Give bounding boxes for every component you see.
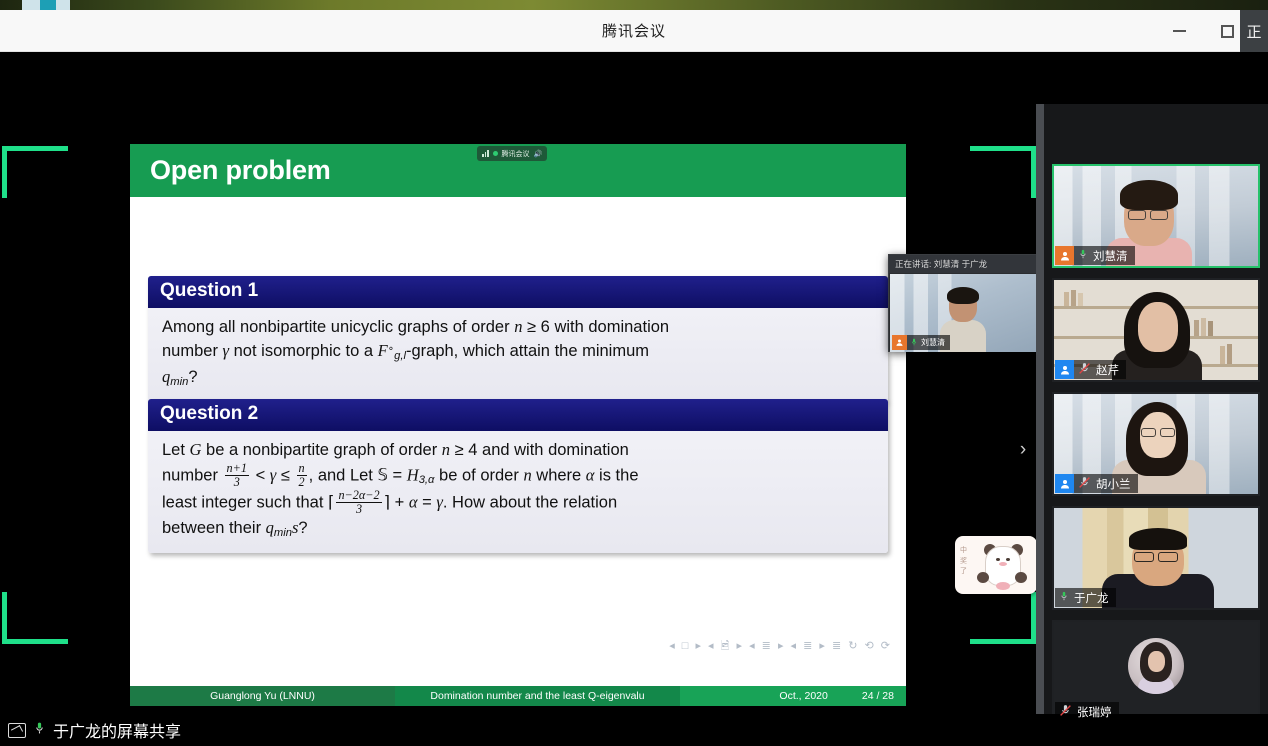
q2-l2b: < [251,467,270,485]
floating-speaker-header: 正在讲话: 刘慧清 于广龙 [889,255,1037,273]
q2-script-H: H [407,466,419,485]
participant-name-chip-4: 张瑞婷 [1055,702,1119,721]
panda-sticker-overlay: 中奖了 [955,536,1037,594]
participant-name-0: 刘慧清 [1093,248,1128,264]
participant-name-2: 胡小兰 [1096,476,1131,492]
q2-l3c: = [418,494,437,512]
q2-l1a: Let [162,441,190,459]
q2-qmin-q: q [266,518,274,537]
question-1-title: Question 1 [148,276,888,308]
q1-line1b: ≥ 6 with domination [522,318,669,336]
signal-bars-icon [482,150,489,157]
microphone-on-icon [1078,248,1088,263]
participant-name-chip-3: 于广龙 [1055,588,1116,607]
q2-fraction-2: n2 [297,462,307,489]
participant-label-0: 刘慧清 [1055,246,1135,265]
q2-frac3-num: n−2α−2 [336,489,381,503]
q2-frac1-num: n+1 [225,462,249,476]
panda-leg [996,582,1010,590]
slide-header-banner: Open problem 腾讯会议 🔊 [130,144,906,197]
participant-name-chip-2: 胡小兰 [1074,474,1138,493]
q2-frac2-den: 2 [297,476,307,489]
participant-label-4: 张瑞婷 [1055,702,1119,721]
participant-label-3: 于广龙 [1055,588,1116,607]
sticker-text: 中奖了 [960,546,972,578]
microphone-muted-icon [1078,362,1091,378]
q2-ceil-open: ⌈ [328,494,334,512]
participant-label-2: 胡小兰 [1055,474,1138,493]
q1-line1a: Among all nonbipartite unicyclic graphs … [162,318,514,336]
participant-name-4: 张瑞婷 [1077,704,1112,720]
q1-line2a: number [162,342,223,360]
participant-tile-2[interactable]: 胡小兰 [1052,392,1260,496]
q1-line2b: not isomorphic to a [229,342,378,360]
window-title: 腾讯会议 [602,20,666,41]
q2-frac1-den: 3 [225,476,249,489]
q2-l2h: is the [594,467,638,485]
q2-l1c: ≥ 4 and with domination [450,441,629,459]
slide-navigation-glyphs[interactable]: ◂ □ ▸ ◂ 🖻 ▸ ◂ ≣ ▸ ◂ ≣ ▸ ≣ ↻ ⟲ ⟳ [669,637,892,656]
person-avatar-icon [1055,246,1074,265]
q1-qmin-q: q [162,367,170,386]
participant-label-1: 赵芹 [1055,360,1126,379]
participant-tile-3[interactable]: 于广龙 [1052,506,1260,610]
slide-footer-subject: Domination number and the least Q-eigenv… [395,686,680,706]
participant-name-1: 赵芹 [1096,362,1119,378]
participants-panel: 刘慧清 [1044,104,1268,746]
microphone-on-icon [33,720,46,741]
side-tab-button[interactable]: 正 [1240,10,1268,52]
q2-H-sub: 3,α [419,475,435,487]
q2-l2d: , and Let [309,467,378,485]
participant-name-3: 于广龙 [1074,590,1109,606]
speaker-icon: 🔊 [534,150,543,158]
shared-slide: Open problem 腾讯会议 🔊 Question 1 Among all… [130,144,906,706]
screen-share-icon [8,723,26,738]
q1-line2c: -graph, which attain the minimum [406,342,649,360]
q1-question-mark: ? [188,368,197,386]
q1-f-sub: g,l [394,350,406,362]
participant-avatar-photo-4 [1128,638,1184,694]
share-region-bracket-top-right [970,146,1036,198]
pill-label: 腾讯会议 [502,149,530,159]
minimize-icon[interactable] [1166,18,1192,44]
share-region-bracket-bottom-right [970,592,1036,644]
q2-frac3-den: 3 [336,503,381,516]
question-1-box: Question 1 Among all nonbipartite unicyc… [148,276,888,402]
panda-eye-right [1006,558,1010,561]
panda-cheek [999,562,1007,566]
person-avatar-icon [1055,474,1074,493]
participant-person-3 [1108,524,1208,608]
q2-l2g: where [532,467,586,485]
person-avatar-icon [892,335,907,350]
q1-script-f: F [378,341,388,360]
floating-speaker-name-chip: 刘慧清 [907,335,950,350]
q1-qmin-sub: min [170,376,188,388]
q2-l2a: number [162,467,223,485]
q2-l3d: . How about the relation [443,494,617,512]
panel-divider-handle[interactable] [1036,104,1044,746]
q2-qmin-sub: min [274,527,292,539]
slide-footer: Guanglong Yu (LNNU) Domination number an… [130,686,906,706]
question-2-box: Question 2 Let G be a nonbipartite graph… [148,399,888,553]
window-titlebar: 腾讯会议 [0,10,1268,52]
q2-frac2-num: n [297,462,307,476]
q2-fraction-3: n−2α−23 [336,489,381,516]
participant-name-chip-1: 赵芹 [1074,360,1126,379]
question-2-title: Question 2 [148,399,888,431]
q2-l3a: least integer such that [162,494,328,512]
q2-fraction-1: n+13 [225,462,249,489]
participant-tile-4[interactable]: 张瑞婷 [1052,620,1260,724]
q2-alpha-2: α [409,493,418,512]
q2-question-mark: ? [298,519,307,537]
slide-footer-page: 24 / 28 [862,690,894,702]
q2-l1b: be a nonbipartite graph of order [201,441,441,459]
microphone-muted-icon [1078,476,1091,492]
status-dot-icon [493,151,498,156]
meeting-stage: Open problem 腾讯会议 🔊 Question 1 Among all… [0,52,1268,714]
question-1-text: Among all nonbipartite unicyclic graphs … [148,308,888,402]
floating-speaker-video: 刘慧清 [890,274,1036,352]
floating-meeting-toolbar-pill[interactable]: 腾讯会议 🔊 [477,146,547,161]
share-region-bracket-top-left [2,146,68,198]
q2-var-G: G [190,440,202,459]
panda-arm-left [977,572,989,583]
q2-l2e: = [388,467,407,485]
slide-title: Open problem [150,155,331,186]
floating-speaker-window[interactable]: 正在讲话: 刘慧清 于广龙 刘慧清 [888,254,1038,352]
meeting-app-window: 腾讯会议 正 Open problem 腾讯会议 🔊 [0,0,1268,746]
participant-tile-1[interactable]: 赵芹 [1052,278,1260,382]
window-controls [1166,10,1240,52]
desktop-background-strip [0,0,1268,10]
screen-share-status-text: 于广龙的屏幕共享 [53,718,181,742]
participant-tile-0[interactable]: 刘慧清 [1052,164,1260,268]
share-region-bracket-bottom-left [2,592,68,644]
panda-arm-right [1015,572,1027,583]
maximize-icon[interactable] [1214,18,1240,44]
person-avatar-icon [1055,360,1074,379]
floating-speaker-name: 刘慧清 [921,337,945,348]
q2-l2c: ≤ [276,467,294,485]
slide-footer-right: Oct., 2020 24 / 28 [680,686,906,706]
slide-footer-author: Guanglong Yu (LNNU) [130,686,395,706]
microphone-on-icon [910,337,918,349]
background-window-nub-accent [40,0,56,10]
q2-blackboard-S: 𝕊 [377,467,387,485]
slide-footer-date: Oct., 2020 [779,690,827,702]
q2-l2f: be of order [434,467,523,485]
q2-l4a: between their [162,519,266,537]
q2-var-n1: n [442,440,450,459]
microphone-muted-icon [1059,704,1072,720]
panda-eye-left [996,558,1000,561]
microphone-on-icon [1059,590,1069,605]
slide-body: Question 1 Among all nonbipartite unicyc… [130,197,906,686]
panda-face [991,550,1015,570]
q2-l3b: + [390,494,409,512]
participant-name-chip-0: 刘慧清 [1074,246,1135,265]
collapse-panel-chevron-right-icon[interactable]: › [1012,437,1034,463]
question-2-text: Let G be a nonbipartite graph of order n… [148,431,888,553]
floating-speaker-label: 刘慧清 [892,335,950,350]
q2-var-n2: n [523,466,531,485]
